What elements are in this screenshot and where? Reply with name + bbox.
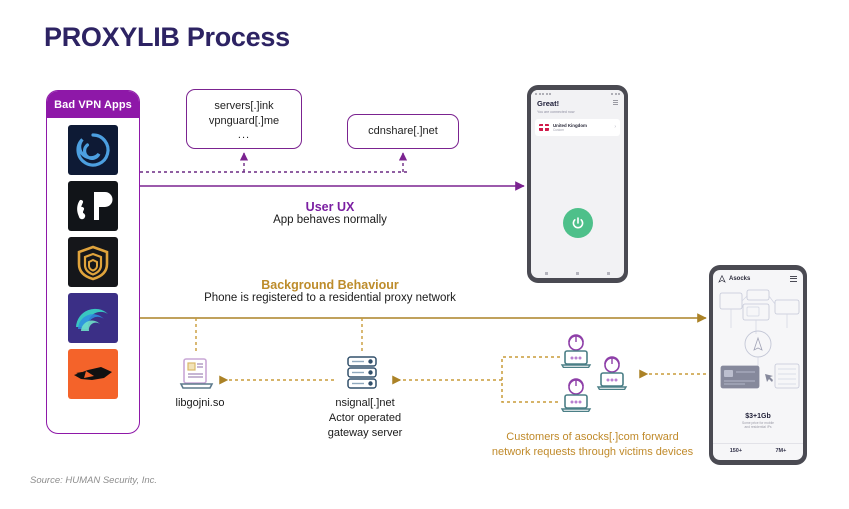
gateway-line-2: Actor operated xyxy=(300,411,430,426)
more-options-icon[interactable] xyxy=(613,100,618,107)
nav-back-icon[interactable] xyxy=(545,272,548,275)
app-icon-spiral[interactable] xyxy=(68,125,118,175)
background-behaviour-title: Background Behaviour xyxy=(120,278,540,292)
customer-avatar-3 xyxy=(596,356,628,395)
asocks-price-value: $3+1Gb xyxy=(713,413,803,420)
customer-avatar-1 xyxy=(560,334,592,373)
vpn-subheadline: You are connected now xyxy=(537,110,624,114)
server-stack-icon xyxy=(344,354,380,392)
power-icon xyxy=(570,215,586,231)
asocks-network-diagram xyxy=(717,288,803,398)
asocks-price-sub-line-2: and residential IPs xyxy=(713,425,803,430)
chevron-right-icon: › xyxy=(614,124,616,130)
page-title: PROXYLIB Process xyxy=(44,22,290,53)
person-laptop-icon xyxy=(596,356,628,390)
vpn-status-bar xyxy=(531,90,624,97)
apps-icon-list xyxy=(47,118,139,399)
nav-recents-icon[interactable] xyxy=(607,272,610,275)
app-icon-bird[interactable] xyxy=(68,349,118,399)
customers-line-2: network requests through victims devices xyxy=(470,445,715,460)
background-behaviour-label-group: Background Behaviour Phone is registered… xyxy=(120,278,540,304)
domain-box-primary: servers[.]ink vpnguard[.]me ... xyxy=(186,89,302,149)
gateway-line-3: gateway server xyxy=(300,426,430,441)
person-laptop-icon xyxy=(560,334,592,368)
asocks-stat-1: 7M+ xyxy=(775,448,786,454)
diagram-canvas: PROXYLIB Process xyxy=(0,0,849,509)
customers-line-1: Customers of asocks[.]com forward xyxy=(470,430,715,445)
app-icon-wave[interactable] xyxy=(68,293,118,343)
vpn-country-sub: Custom xyxy=(553,128,587,132)
vpn-country-row[interactable]: United Kingdom Custom › xyxy=(535,119,620,136)
person-laptop-icon xyxy=(560,378,592,412)
asocks-screen: Asocks xyxy=(713,270,803,460)
domain-line-1: cdnshare[.]net xyxy=(368,124,438,139)
document-library-icon xyxy=(178,353,216,391)
domain-ellipsis: ... xyxy=(238,132,250,139)
asocks-stats-row: 150+ 7M+ xyxy=(713,443,803,454)
vpn-power-button[interactable] xyxy=(563,208,593,238)
background-behaviour-subtitle: Phone is registered to a residential pro… xyxy=(120,292,540,304)
domain-line-1: servers[.]ink xyxy=(214,99,273,114)
apps-panel-header: Bad VPN Apps xyxy=(47,91,139,118)
vpn-app-screen: Great! You are connected now United King… xyxy=(531,90,624,278)
vpn-headline: Great! xyxy=(537,99,624,108)
uk-flag-icon xyxy=(539,124,549,131)
gateway-node xyxy=(344,354,380,397)
user-ux-label-group: User UX App behaves normally xyxy=(180,200,480,226)
customers-label: Customers of asocks[.]com forward networ… xyxy=(470,430,715,461)
user-ux-title: User UX xyxy=(180,200,480,214)
gateway-label: nsignal[.]net Actor operated gateway ser… xyxy=(300,396,430,441)
vpn-app-phone-mockup: Great! You are connected now United King… xyxy=(527,85,628,283)
vpn-country-name: United Kingdom xyxy=(553,123,587,128)
domain-line-2: vpnguard[.]me xyxy=(209,114,279,129)
asocks-brand-name: Asocks xyxy=(729,276,750,282)
nav-home-icon[interactable] xyxy=(576,272,579,275)
asocks-stat-0: 150+ xyxy=(730,448,742,454)
android-nav-bar xyxy=(531,272,624,275)
customer-avatar-2 xyxy=(560,378,592,417)
source-caption: Source: HUMAN Security, Inc. xyxy=(30,475,157,486)
app-icon-signal[interactable] xyxy=(68,181,118,231)
asocks-price-sub: Some price for mobile and residential IP… xyxy=(713,421,803,430)
asocks-phone-mockup: Asocks xyxy=(709,265,807,465)
status-bar-left-icons xyxy=(535,93,551,95)
asocks-pricing-block: $3+1Gb Some price for mobile and residen… xyxy=(713,413,803,430)
library-node xyxy=(178,353,216,396)
asocks-logo-icon xyxy=(718,275,726,283)
gateway-line-1: nsignal[.]net xyxy=(300,396,430,411)
library-label: libgojni.so xyxy=(150,396,250,411)
app-icon-shield[interactable] xyxy=(68,237,118,287)
status-bar-right-icons xyxy=(611,93,620,95)
bad-vpn-apps-panel: Bad VPN Apps xyxy=(46,90,140,434)
domain-box-secondary: cdnshare[.]net xyxy=(347,114,459,149)
user-ux-subtitle: App behaves normally xyxy=(180,214,480,226)
hamburger-menu-icon[interactable] xyxy=(790,276,797,283)
